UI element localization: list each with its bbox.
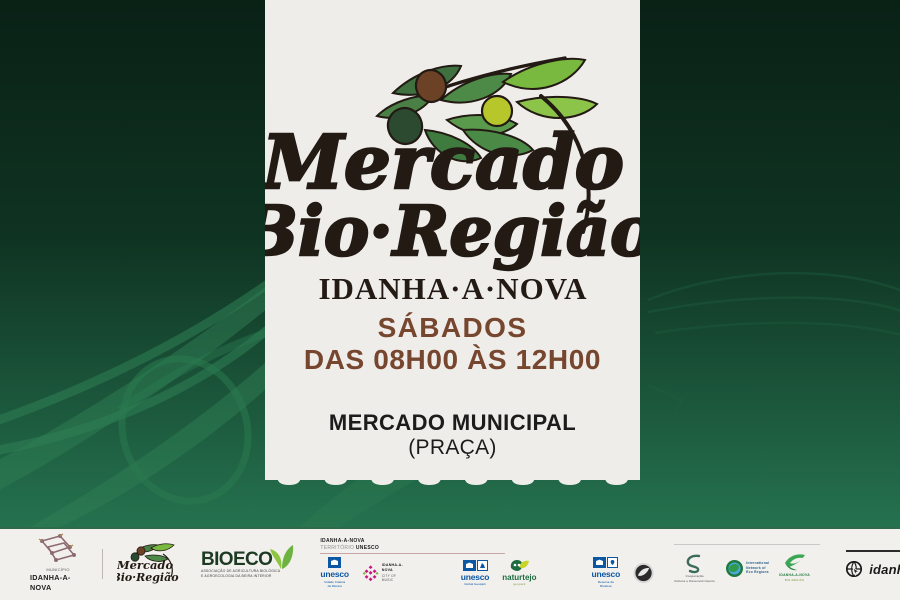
bioeco-name: BIOECO bbox=[201, 549, 272, 571]
website-label[interactable]: idanha.pt bbox=[869, 562, 900, 577]
mercado-bio-regiao-logo: Mercado Bio·Região IDANHA·A·NOVA bbox=[265, 8, 640, 308]
footer-website-group[interactable]: idanha.pt bbox=[846, 527, 900, 600]
footer-bioeco-logo: BIOECO ASSOCIAÇÃO DE AGRICULTURA BIOLÓGI… bbox=[201, 527, 294, 600]
idanha-eco-leaf-icon bbox=[783, 553, 807, 572]
badge-idanha-eco-line2: BIO-REGIÃO bbox=[785, 578, 805, 582]
unesco-header-line2-prefix: TERRITÓRIO bbox=[320, 545, 356, 551]
footer-vertical-divider bbox=[102, 549, 103, 579]
unesco-header-line2-bold: UNESCO bbox=[356, 545, 379, 551]
badge-unesco-geopark: unesco Global Geopark bbox=[461, 560, 490, 587]
municipio-mark-icon bbox=[30, 533, 86, 565]
logo-script-line2: Bio·Região bbox=[265, 192, 640, 272]
badge-naturtejo-word: naturtejo bbox=[502, 573, 536, 582]
badge-unesco-music-sub: Cidade Criativada Música bbox=[324, 580, 345, 589]
event-hours: DAS 08H00 ÀS 12H00 bbox=[265, 344, 640, 376]
footer-unesco-cluster: IDANHA-A-NOVA TERRITÓRIO UNESCO unesco C… bbox=[320, 527, 654, 600]
badge-inec-line1: International bbox=[746, 561, 769, 566]
badge-unesco-music: unesco Cidade Criativada Música bbox=[320, 557, 349, 589]
badge-inec-line3: Eco Regions bbox=[746, 570, 769, 575]
poster-background: Mercado Bio·Região IDANHA·A·NOVA Mercado… bbox=[0, 0, 900, 527]
footer-logo-bar: MUNICÍPIO IDANHA-A-NOVA Mercado Bio·Regi… bbox=[0, 527, 900, 600]
badge-unesco-geopark-word: unesco bbox=[461, 572, 490, 582]
event-day: SÁBADOS bbox=[265, 312, 640, 343]
bioeco-sub2: E AGROECOLOGIA DA BEIRA INTERIOR bbox=[201, 574, 294, 579]
cooperacao-swirl-icon bbox=[684, 553, 705, 574]
right-cluster-rule bbox=[674, 544, 820, 545]
badge-naturtejo-sub: geopark bbox=[513, 582, 526, 586]
card-scalloped-edge bbox=[265, 455, 640, 491]
svg-text:Mercado: Mercado bbox=[117, 558, 173, 572]
logo-subtitle: IDANHA·A·NOVA bbox=[318, 271, 587, 306]
badge-unesco-music-word: unesco bbox=[320, 569, 349, 579]
footer-right-cluster: Cooperação Cultura e Desenvolvimento Int… bbox=[674, 527, 820, 600]
badge-city-of-music-line1: IDANHA-A-NOVA bbox=[382, 563, 408, 573]
badge-cooperacao: Cooperação Cultura e Desenvolvimento bbox=[674, 553, 715, 582]
badge-unesco-biosphere-sub: Reserva daBiosfera bbox=[598, 580, 614, 589]
badge-idanha-eco-region: IDANHA-A-NOVA BIO-REGIÃO bbox=[779, 553, 810, 582]
badge-naturtejo: naturtejo geopark bbox=[502, 559, 536, 586]
event-venue: MERCADO MUNICIPAL bbox=[265, 410, 640, 435]
event-info: SÁBADOS DAS 08H00 ÀS 12H00 MERCADO MUNIC… bbox=[265, 312, 640, 460]
inec-globe-icon bbox=[725, 559, 744, 578]
badge-inec: International Network of Eco Regions bbox=[725, 559, 769, 578]
badge-city-of-music: IDANHA-A-NOVA CITY OF MUSIC bbox=[362, 563, 408, 584]
municipio-label-line2: IDANHA-A-NOVA bbox=[30, 573, 86, 594]
website-rule bbox=[846, 550, 900, 552]
svg-text:Bio·Região: Bio·Região bbox=[117, 571, 179, 584]
mercado-mini-logo-icon: Mercado Bio·Região bbox=[117, 542, 179, 586]
badge-unesco-biosphere: unesco Reserva daBiosfera bbox=[592, 557, 621, 589]
footer-municipio-group: MUNICÍPIO IDANHA-A-NOVA bbox=[30, 527, 117, 600]
unesco-header-rule bbox=[320, 553, 505, 554]
badge-unesco-geopark-sub: Global Geopark bbox=[464, 582, 486, 587]
footer-divider bbox=[0, 527, 900, 529]
footer-mercado-logo: Mercado Bio·Região bbox=[117, 527, 179, 600]
bioeco-leaf-icon bbox=[269, 543, 294, 570]
naturtejo-leaf-icon bbox=[508, 559, 530, 574]
badge-unesco-biosphere-word: unesco bbox=[592, 569, 621, 579]
city-of-music-diamond-icon bbox=[362, 563, 379, 584]
biosphere-seal-icon bbox=[633, 560, 654, 586]
badge-cooperacao-sub2: Cultura e Desenvolvimento bbox=[674, 579, 715, 583]
event-venue-detail: (PRAÇA) bbox=[265, 435, 640, 460]
globe-cursor-icon bbox=[846, 561, 863, 578]
badge-city-of-music-line2: CITY OF MUSIC bbox=[382, 574, 408, 583]
